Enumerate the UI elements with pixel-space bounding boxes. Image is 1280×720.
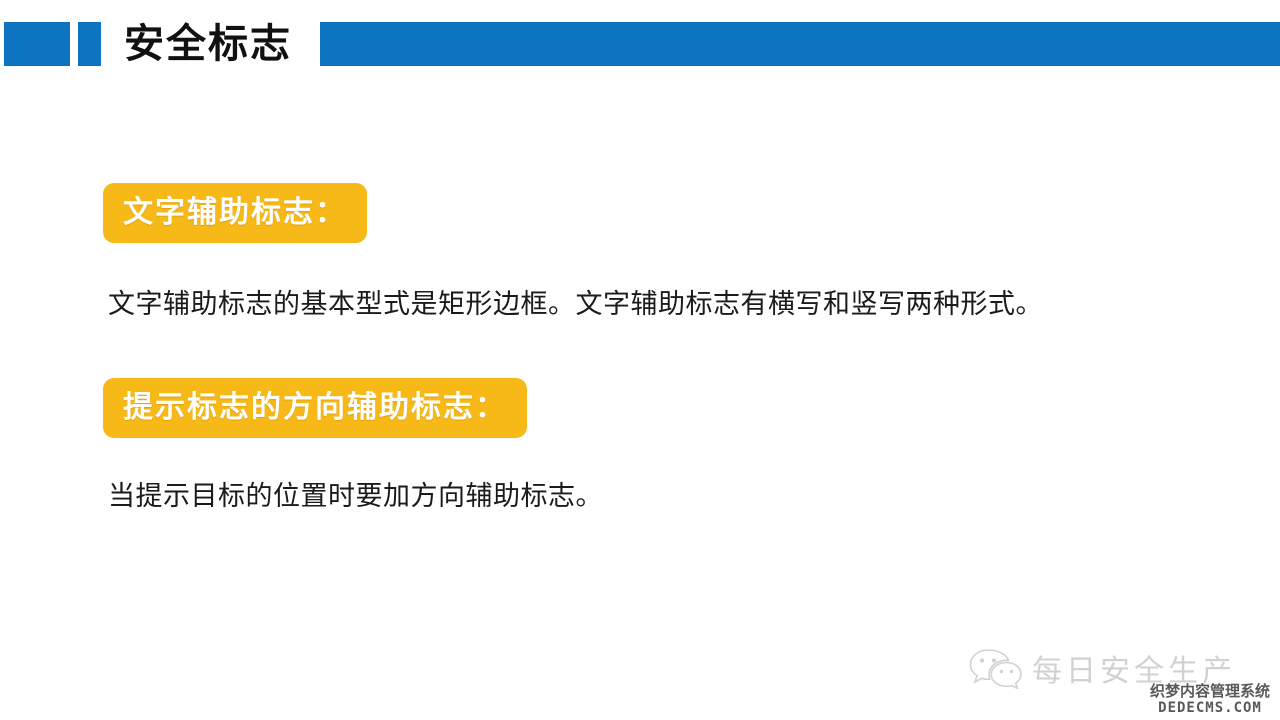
wechat-icon <box>968 647 1022 689</box>
section-badge-direction-auxiliary-sign: 提示标志的方向辅助标志： <box>103 378 527 438</box>
slide-canvas: 安全标志 文字辅助标志： 文字辅助标志的基本型式是矩形边框。文字辅助标志有横写和… <box>0 0 1280 720</box>
dedecms-watermark: 织梦内容管理系统 DEDECMS.COM <box>1143 684 1277 716</box>
section-body-direction-auxiliary-sign: 当提示目标的位置时要加方向辅助标志。 <box>108 474 603 513</box>
section-body-text-auxiliary-sign: 文字辅助标志的基本型式是矩形边框。文字辅助标志有横写和竖写两种形式。 <box>108 282 1043 321</box>
section-badge-text-auxiliary-sign: 文字辅助标志： <box>103 183 367 243</box>
dedecms-watermark-en: DEDECMS.COM <box>1143 700 1277 716</box>
slide-content: 文字辅助标志： 文字辅助标志的基本型式是矩形边框。文字辅助标志有横写和竖写两种形… <box>0 0 1280 720</box>
dedecms-watermark-cn: 织梦内容管理系统 <box>1143 684 1277 700</box>
